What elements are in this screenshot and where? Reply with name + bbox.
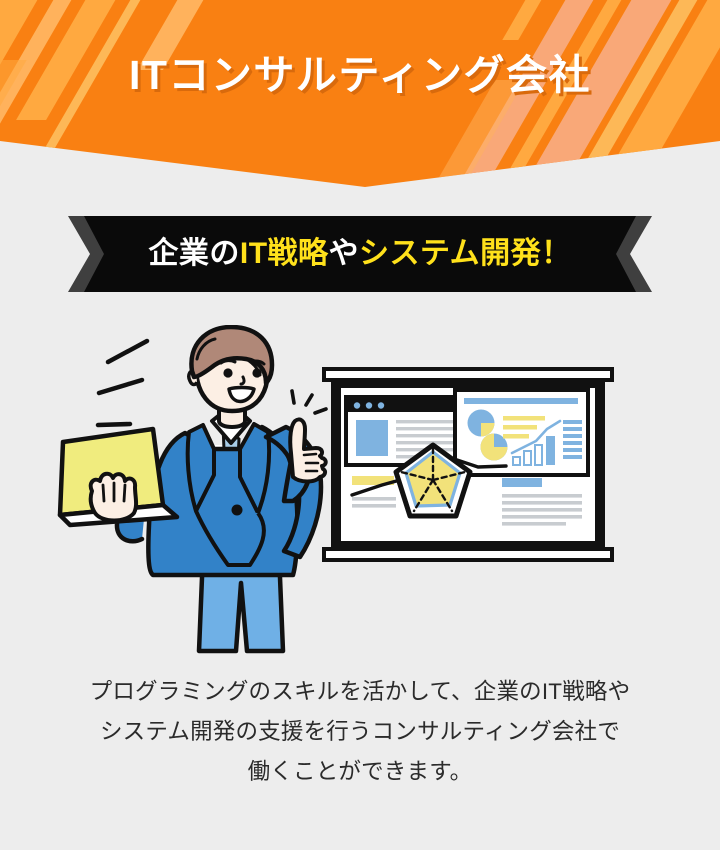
ribbon-body: 企業のIT戦略やシステム開発！ [84,216,636,292]
businessman-figure [60,327,326,651]
illustration [0,325,720,655]
ribbon-text: 企業のIT戦略やシステム開発！ [148,239,571,269]
sparkle-lines [292,391,326,413]
emphasis-lines [98,341,147,425]
body-copy-line-2: システム開発の支援を行うコンサルティング会社で [30,712,690,752]
ribbon-banner: 企業のIT戦略やシステム開発！ [0,216,720,292]
presentation-screen [324,369,612,560]
header-title: ITコンサルティング会社 [0,0,720,141]
chart-panel [455,390,588,475]
header-banner: ITコンサルティング会社 [0,0,720,190]
body-copy-line-1: プログラミングのスキルを活かして、企業のIT戦略や [30,672,690,712]
ribbon-segment-1: IT戦略 [240,237,329,270]
ribbon-segment-3: システム開発！ [359,237,572,270]
ribbon-segment-0: 企業の [148,237,240,270]
pie-chart-1 [468,410,495,437]
body-copy: プログラミングのスキルを活かして、企業のIT戦略や システム開発の支援を行うコン… [30,672,690,792]
body-copy-line-3: 働くことができます。 [30,752,690,792]
holding-hand [91,474,136,521]
pointing-hand [290,419,326,481]
ribbon-segment-2: や [329,237,360,270]
promo-card: ITコンサルティング会社 企業のIT戦略やシステム開発！ [0,0,720,850]
